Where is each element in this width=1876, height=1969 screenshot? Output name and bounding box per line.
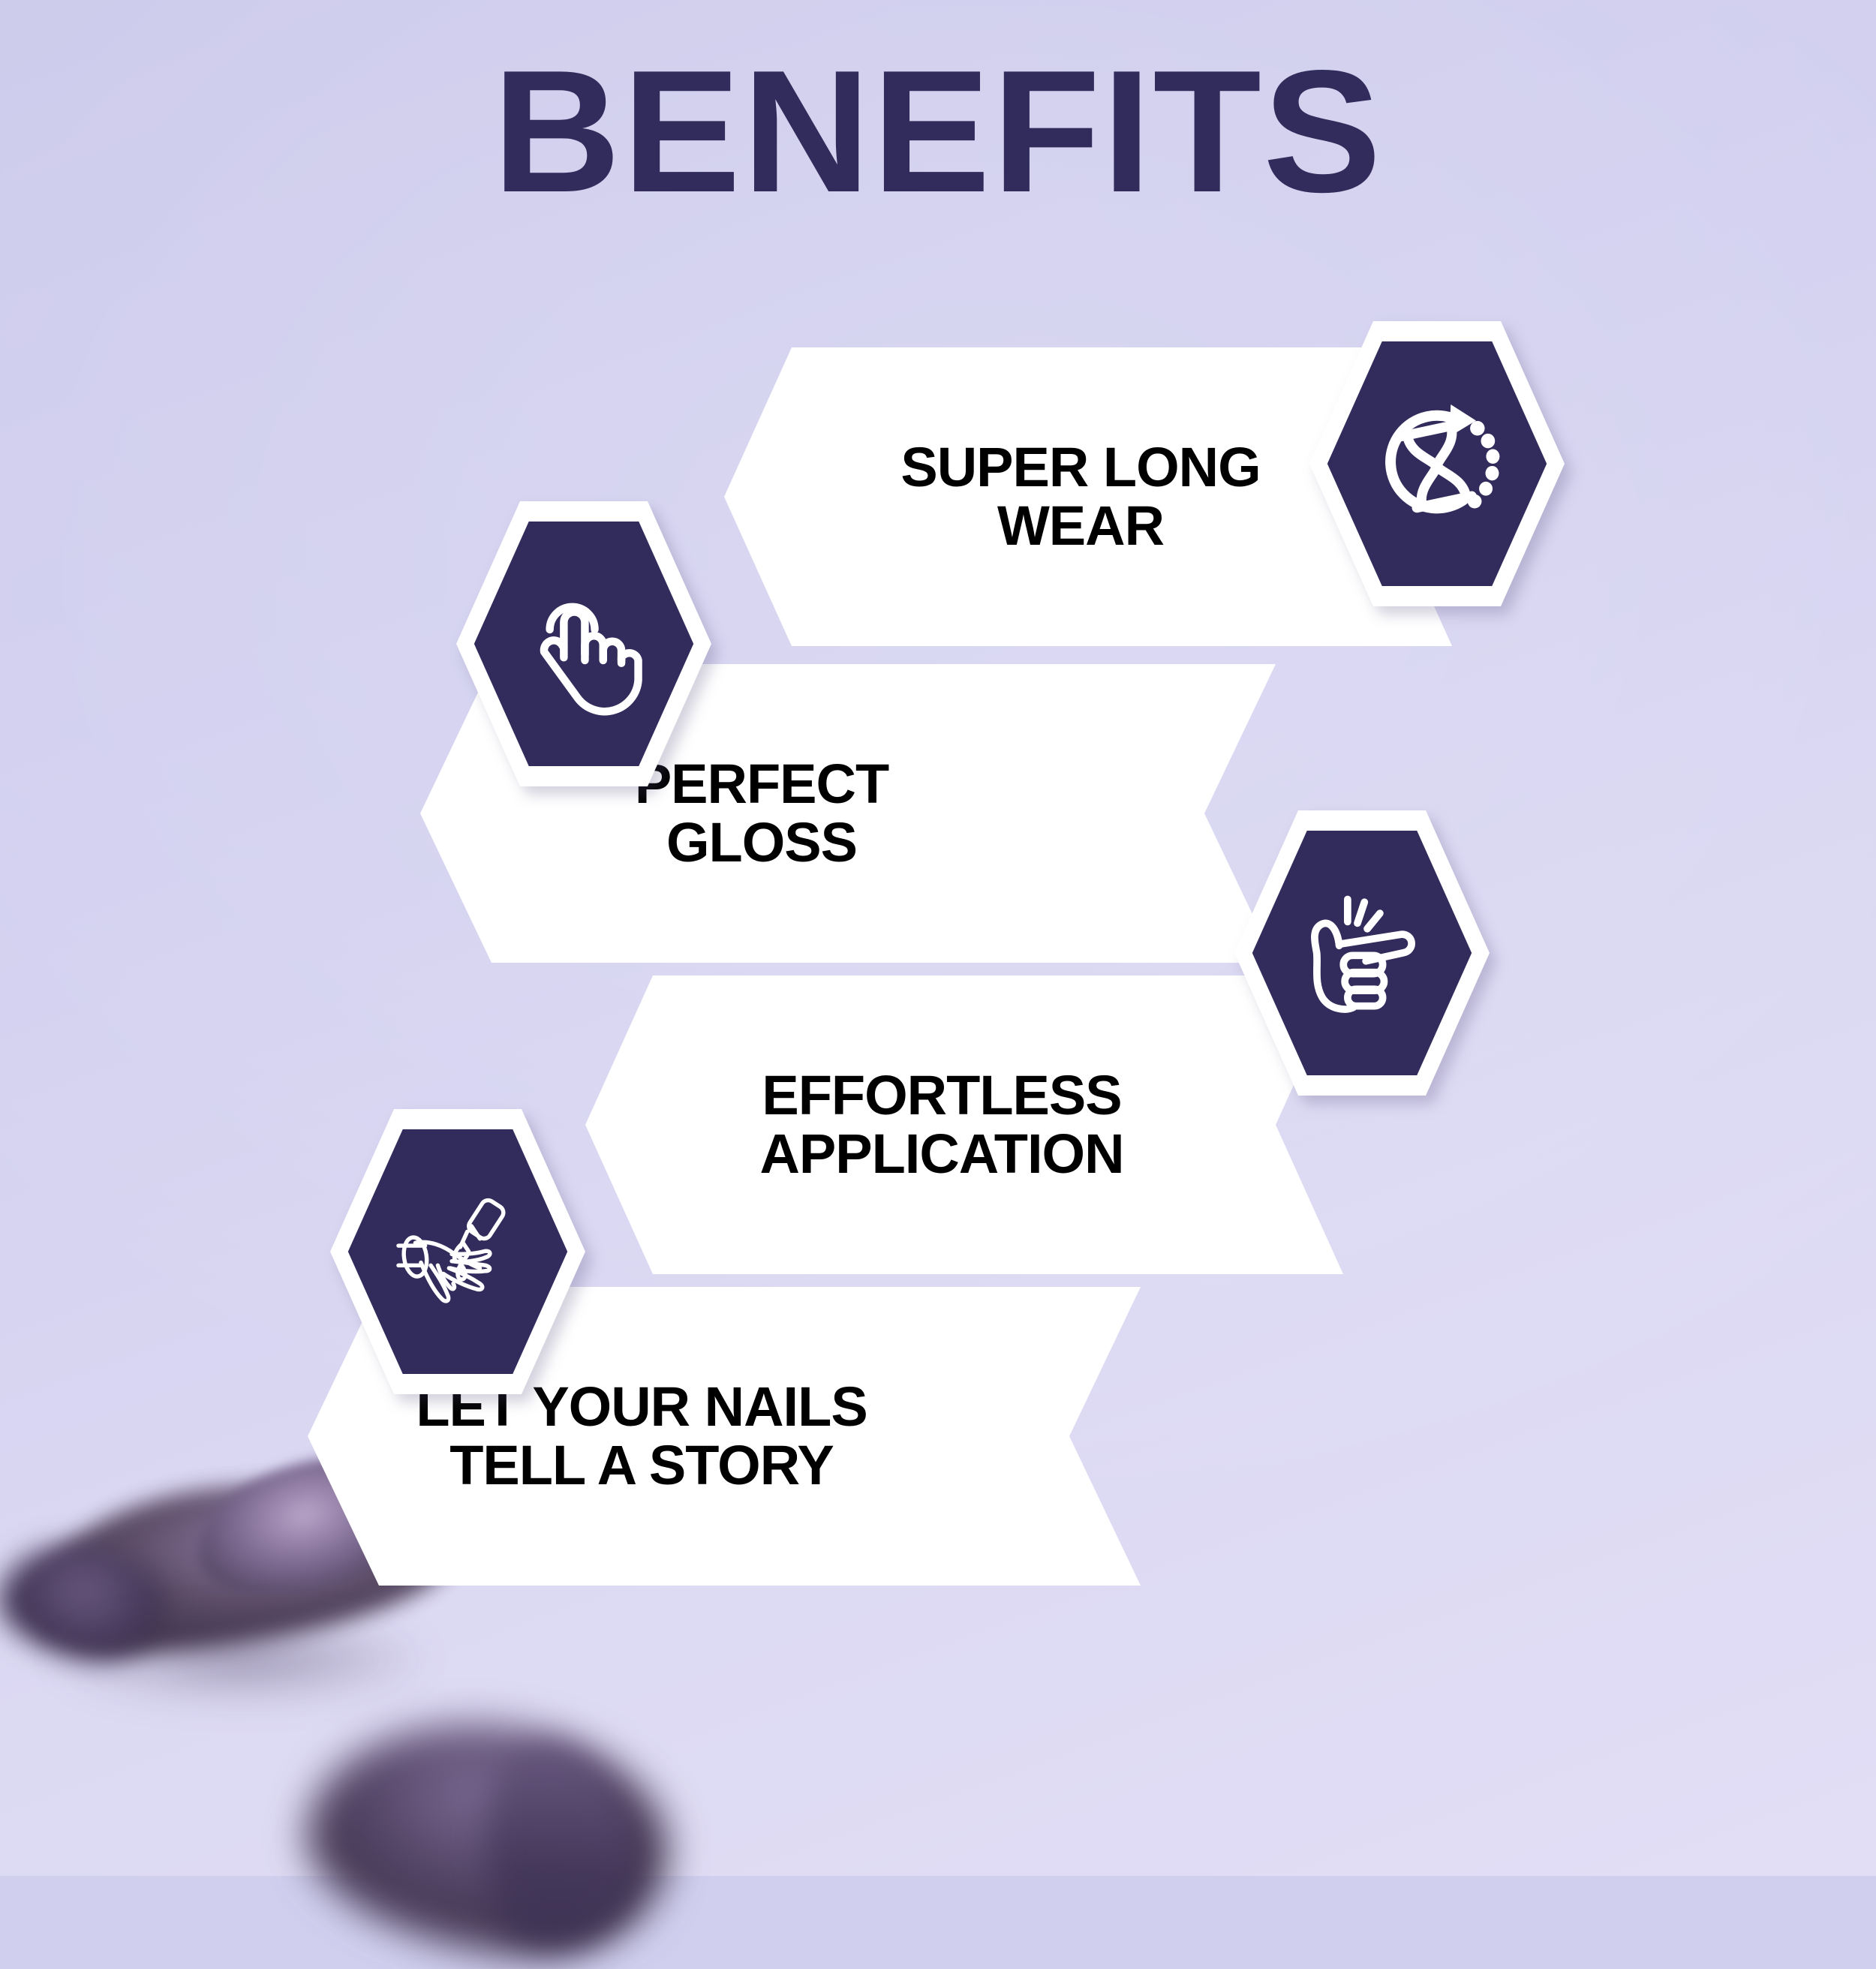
benefit-label: LET YOUR NAILS TELL A STORY	[416, 1378, 867, 1496]
hexagon-fill	[348, 1129, 567, 1375]
benefit-card-effortless-application[interactable]: EFFORTLESS APPLICATION	[585, 975, 1343, 1274]
page-title-text: BENEFITS	[493, 45, 1383, 219]
benefit-label: SUPER LONG WEAR	[900, 438, 1260, 556]
hourglass-rotate-icon	[1366, 385, 1507, 542]
hexagon-fill	[1252, 831, 1472, 1076]
benefit-icon-badge-let-your-nails-tell-a-story[interactable]	[330, 1109, 585, 1394]
benefit-icon-badge-super-long-wear[interactable]	[1309, 321, 1565, 606]
benefit-icon-badge-effortless-application[interactable]	[1234, 810, 1490, 1096]
pointing-hand-icon	[1291, 874, 1432, 1031]
hexagon-outline	[330, 1109, 585, 1394]
page-title: BENEFITS	[0, 45, 1876, 219]
hexagon-outline	[456, 501, 711, 786]
hexagon-outline	[1234, 810, 1490, 1096]
tap-hand-icon	[513, 565, 654, 722]
benefit-label: EFFORTLESS APPLICATION	[759, 1066, 1123, 1184]
nail-polish-hand-icon	[387, 1173, 528, 1330]
hexagon-outline	[1309, 321, 1565, 606]
petal-shadow	[45, 1613, 435, 1703]
benefit-icon-badge-perfect-gloss[interactable]	[456, 501, 711, 786]
hexagon-fill	[474, 522, 693, 767]
hexagon-fill	[1327, 341, 1547, 587]
